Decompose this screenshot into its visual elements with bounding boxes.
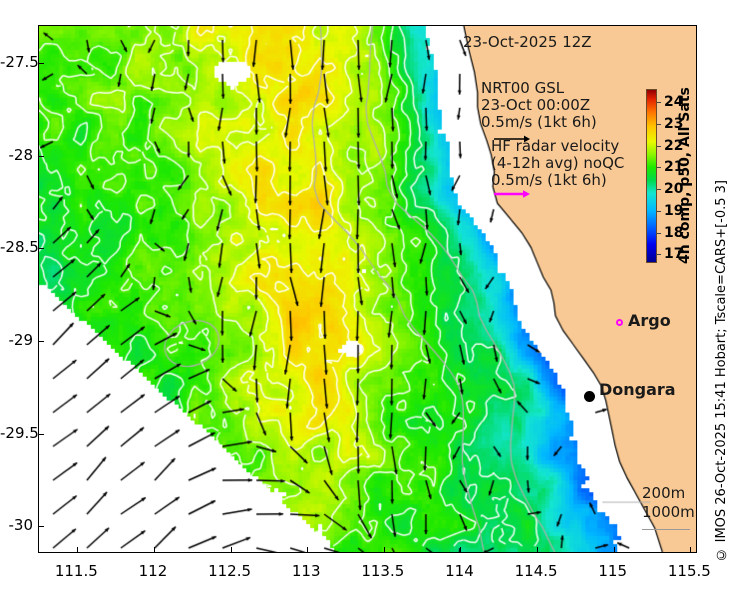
depth-label-1000m: 1000m <box>642 503 695 522</box>
velocity-vectors-canvas <box>39 26 696 552</box>
x-tick-label: 112.5 <box>208 562 251 580</box>
y-tick <box>38 341 44 342</box>
x-tick-label: 114.5 <box>515 562 558 580</box>
x-tick-label: 113.5 <box>361 562 404 580</box>
x-tick-label: 113 <box>292 562 321 580</box>
x-tick-label: 115.5 <box>668 562 711 580</box>
x-tick <box>460 547 461 553</box>
colorbar: 1718192021222324 <box>646 89 657 263</box>
colorbar-tick <box>657 211 661 212</box>
x-tick <box>154 547 155 553</box>
nrt-legend-line-2: 23-Oct 00:00Z <box>481 97 597 114</box>
colorbar-tick <box>657 233 661 234</box>
x-tick <box>537 547 538 553</box>
hf-legend-line-1: HF radar velocity <box>491 138 624 155</box>
credit-text: © IMOS 26-Oct-2025 15:41 Hobart; Tscale=… <box>714 180 729 562</box>
x-tick-label: 114 <box>445 562 474 580</box>
title-date: 23-Oct-2025 12Z <box>463 34 592 51</box>
y-tick-label: -28.5 <box>0 238 33 256</box>
colorbar-tick <box>657 102 661 103</box>
dongara-label: Dongara <box>599 381 676 398</box>
depth-label-200m: 200m <box>642 484 695 503</box>
colorbar-tick <box>657 146 661 147</box>
y-tick <box>38 434 44 435</box>
y-tick-label: -28 <box>0 146 33 164</box>
y-tick <box>38 526 44 527</box>
y-tick-label: -30 <box>0 516 33 534</box>
y-tick <box>38 156 44 157</box>
hf-legend-line-3: 0.5m/s (1kt 6h) <box>491 172 624 189</box>
x-tick <box>614 547 615 553</box>
argo-marker-icon[interactable] <box>616 319 623 326</box>
colorbar-tick <box>657 124 661 125</box>
colorbar-tick <box>657 167 661 168</box>
x-tick <box>690 547 691 553</box>
depth-contour-legend: 200m 1000m <box>642 484 695 522</box>
x-tick-label: 115 <box>598 562 627 580</box>
velocity-scale-arrow-magenta-icon <box>494 189 530 199</box>
dongara-marker-icon[interactable] <box>584 391 595 402</box>
colorbar-tick <box>657 189 661 190</box>
hf-legend-line-2: (4-12h avg) noQC <box>491 155 624 172</box>
map-plot-area[interactable]: 23-Oct-2025 12Z NRT00 GSL 23-Oct 00:00Z … <box>38 25 697 553</box>
colorbar-title: 4h comp, p50, All Sats <box>676 90 694 262</box>
y-tick-label: -29 <box>0 331 33 349</box>
colorbar-tick <box>657 254 661 255</box>
x-tick <box>307 547 308 553</box>
nrt-legend-line-3: 0.5m/s (1kt 6h) <box>481 114 597 131</box>
nrt-legend-block: NRT00 GSL 23-Oct 00:00Z 0.5m/s (1kt 6h) <box>481 80 597 131</box>
x-tick <box>231 547 232 553</box>
x-tick <box>77 547 78 553</box>
x-tick-label: 111.5 <box>55 562 98 580</box>
x-tick-label: 112 <box>139 562 168 580</box>
y-tick <box>38 63 44 64</box>
figure-root: 23-Oct-2025 12Z NRT00 GSL 23-Oct 00:00Z … <box>0 0 740 592</box>
argo-label: Argo <box>628 312 671 329</box>
y-tick <box>38 248 44 249</box>
x-tick <box>384 547 385 553</box>
hf-legend-block: HF radar velocity (4-12h avg) noQC 0.5m/… <box>491 138 624 189</box>
y-tick-label: -27.5 <box>0 53 33 71</box>
depth-legend-rule <box>642 529 690 530</box>
colorbar-gradient <box>646 89 657 263</box>
y-tick-label: -29.5 <box>0 424 33 442</box>
nrt-legend-line-1: NRT00 GSL <box>481 80 597 97</box>
